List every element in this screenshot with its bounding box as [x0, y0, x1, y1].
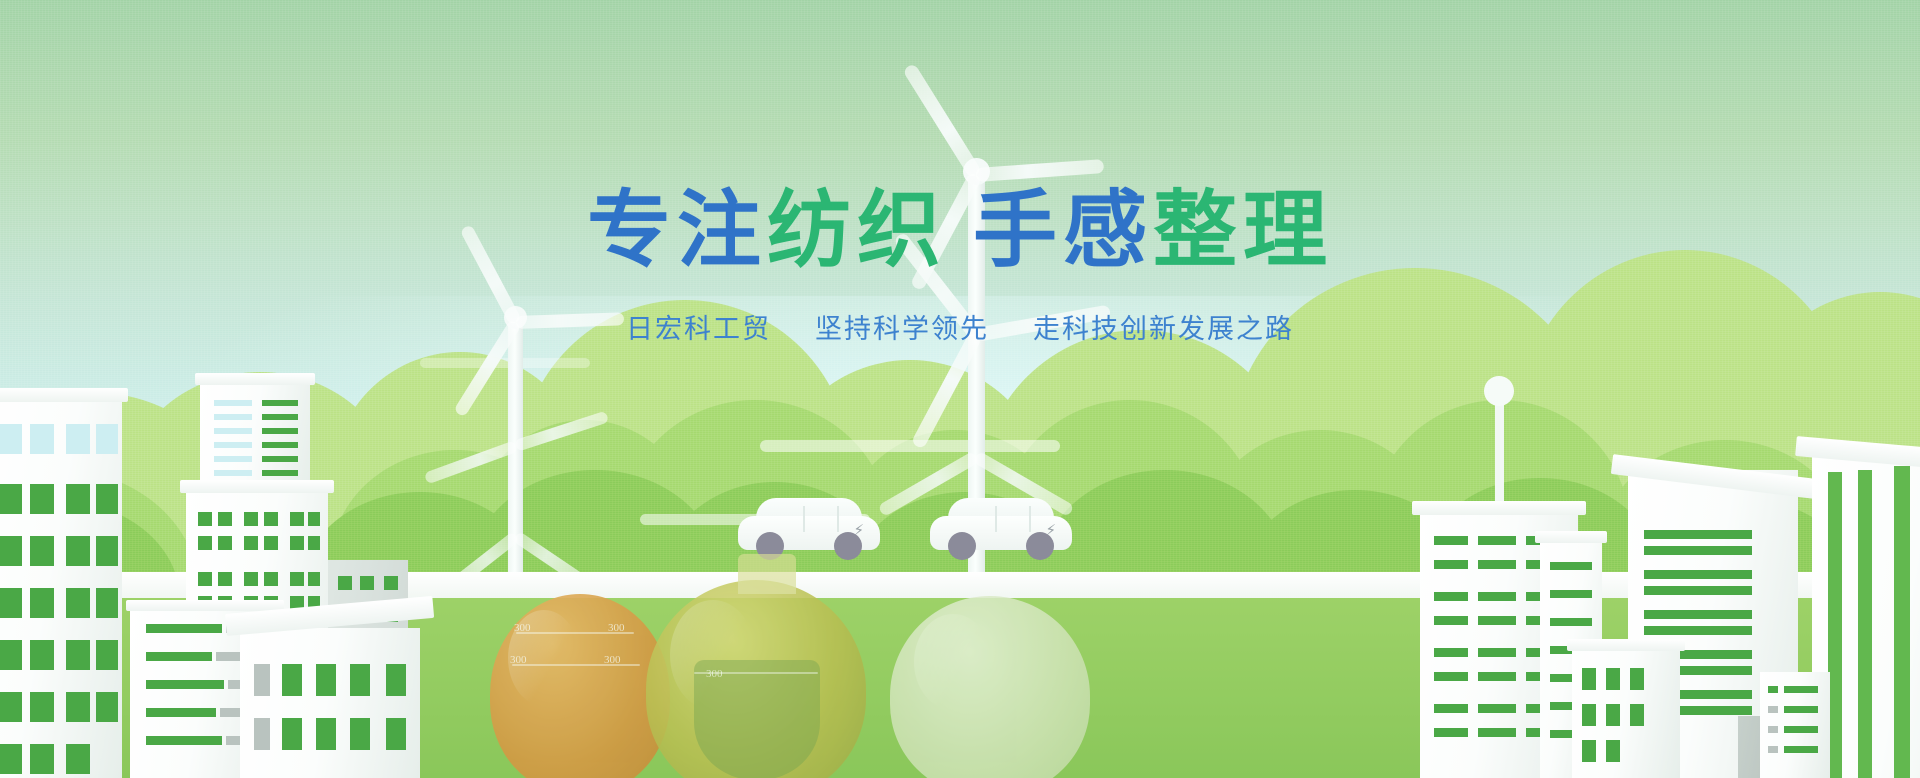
- car-window-divider: [803, 506, 805, 532]
- beaker-gradation-label: 300: [604, 654, 621, 666]
- window-green: [1582, 704, 1596, 726]
- window-green: [244, 512, 258, 526]
- window-cyan: [214, 470, 252, 476]
- window-stripe-green: [1550, 590, 1592, 598]
- window-stripe-green: [1644, 586, 1752, 595]
- window-green: [66, 692, 90, 722]
- window-stripe-green: [1644, 530, 1752, 539]
- window-stripe-green: [1784, 746, 1818, 753]
- window-stripe-green: [262, 470, 298, 476]
- window-green: [198, 512, 212, 526]
- window-green: [66, 640, 90, 670]
- window-green: [264, 512, 278, 526]
- window-green: [308, 536, 320, 550]
- window-green: [360, 576, 374, 590]
- window-gray: [254, 664, 270, 696]
- window-gray: [1768, 706, 1778, 713]
- window-green: [1606, 668, 1620, 690]
- window-stripe-green: [1434, 704, 1468, 713]
- window-green: [1582, 740, 1596, 762]
- window-cyan: [214, 414, 252, 420]
- window-cyan: [214, 442, 252, 448]
- ev-lightning-icon: ⚡: [1045, 523, 1056, 538]
- subline-slogan-two: 走科技创新发展之路: [1033, 307, 1294, 346]
- window-green: [0, 536, 22, 566]
- window-green: [1630, 704, 1644, 726]
- window-stripe-vertical: [1894, 466, 1910, 778]
- window-stripe-vertical: [1828, 472, 1842, 778]
- window-green: [264, 572, 278, 586]
- subline-company-name: 日宏科工贸: [626, 307, 771, 346]
- window-green: [282, 664, 302, 696]
- window-stripe-green: [1478, 592, 1516, 601]
- window-green: [316, 718, 336, 750]
- window-stripe-green: [146, 736, 222, 745]
- building-left-front: [240, 628, 420, 778]
- window-green: [0, 588, 22, 618]
- building-face: [240, 628, 420, 778]
- building-roof: [126, 600, 284, 611]
- window-stripe-green: [1784, 726, 1818, 733]
- window-green: [1582, 668, 1596, 690]
- window-stripe-green: [1478, 728, 1516, 737]
- window-green: [30, 692, 54, 722]
- window-green: [0, 744, 22, 774]
- window-green: [1606, 740, 1620, 762]
- headline-part-fangzhi: 纺织: [767, 186, 947, 274]
- car-window-divider: [1029, 506, 1031, 532]
- beaker-orange: 300 300 300 300: [490, 594, 670, 778]
- beaker-gradation-label: 300: [706, 668, 723, 680]
- window-stripe-green: [1478, 648, 1516, 657]
- subline-slogan-one: 坚持科学领先: [815, 307, 989, 346]
- building-roof: [1412, 501, 1586, 515]
- window-green: [66, 536, 90, 566]
- window-green: [308, 572, 320, 586]
- window-stripe-green: [146, 708, 216, 717]
- window-stripe-green: [1784, 706, 1818, 713]
- window-cyan: [96, 424, 118, 454]
- eco-city-banner: ⚡ ⚡ 300 300 300 300 300 专注纺织手感整理 日宏科工贸坚持…: [0, 0, 1920, 778]
- car-wheel: [948, 532, 976, 560]
- window-green: [290, 512, 304, 526]
- window-green: [308, 512, 320, 526]
- window-stripe-green: [1644, 610, 1752, 619]
- building-roof: [180, 480, 334, 493]
- window-green: [350, 664, 370, 696]
- antenna-ball-icon: [1484, 376, 1514, 406]
- beaker-neck: [738, 554, 796, 594]
- window-green: [386, 718, 406, 750]
- window-stripe-green: [1434, 592, 1468, 601]
- beaker-gloss: [914, 614, 992, 710]
- window-stripe-green: [1550, 562, 1592, 570]
- window-stripe-green: [1768, 686, 1778, 693]
- window-green: [350, 718, 370, 750]
- window-green: [198, 536, 212, 550]
- window-green: [218, 572, 232, 586]
- window-green: [1606, 704, 1620, 726]
- page-title: 专注纺织手感整理: [0, 186, 1920, 274]
- window-stripe-vertical: [1858, 470, 1872, 778]
- beaker-gradation-label: 300: [514, 622, 531, 634]
- window-stripe-green: [1644, 546, 1752, 555]
- window-stripe-green: [1434, 672, 1468, 681]
- window-cyan: [66, 424, 90, 454]
- building-roof: [1535, 531, 1607, 543]
- building-roof: [195, 373, 315, 385]
- window-green: [96, 692, 118, 722]
- window-green: [198, 572, 212, 586]
- building-left-striped: [200, 382, 310, 492]
- window-green: [30, 588, 54, 618]
- window-green: [96, 640, 118, 670]
- window-green: [96, 536, 118, 566]
- window-green: [290, 536, 304, 550]
- window-stripe-green: [1478, 616, 1516, 625]
- headline-part-shougan: 手感: [973, 186, 1153, 274]
- window-green: [66, 484, 90, 514]
- window-green: [218, 536, 232, 550]
- window-cyan: [30, 424, 54, 454]
- window-stripe-green: [1434, 560, 1468, 569]
- window-green: [66, 588, 90, 618]
- window-green: [338, 576, 352, 590]
- window-stripe-green: [262, 414, 298, 420]
- window-green: [316, 664, 336, 696]
- window-green: [30, 640, 54, 670]
- window-stripe-green: [1478, 536, 1516, 545]
- car-window-divider: [837, 506, 839, 532]
- window-stripe-green: [1644, 626, 1752, 635]
- window-stripe-green: [1434, 616, 1468, 625]
- window-green: [282, 718, 302, 750]
- window-stripe-green: [262, 456, 298, 462]
- antenna-mast: [1495, 398, 1504, 513]
- window-stripe-green: [1478, 560, 1516, 569]
- headline-part-zhuanzhu: 专注: [587, 186, 767, 274]
- window-stripe-green: [1478, 672, 1516, 681]
- window-stripe-green: [262, 400, 298, 406]
- car-window-divider: [995, 506, 997, 532]
- window-stripe-green: [1434, 536, 1468, 545]
- window-green: [66, 744, 90, 774]
- window-stripe-green: [262, 428, 298, 434]
- window-green: [290, 572, 304, 586]
- window-stripe-green: [146, 652, 212, 661]
- window-stripe-green: [1784, 686, 1818, 693]
- building-left-tower: [0, 398, 122, 778]
- building-right-front-grid: [1572, 648, 1680, 778]
- window-gray: [1768, 746, 1778, 753]
- turbine-blade: [424, 440, 518, 484]
- beaker-gradation-label: 300: [510, 654, 527, 666]
- window-stripe-green: [146, 624, 222, 633]
- window-green: [244, 536, 258, 550]
- window-gray: [254, 718, 270, 750]
- ev-lightning-icon: ⚡: [853, 523, 864, 538]
- window-green: [96, 484, 118, 514]
- window-cyan: [214, 428, 252, 434]
- window-stripe-green: [146, 680, 224, 689]
- building-roof: [0, 388, 128, 402]
- window-green: [384, 576, 398, 590]
- window-green: [30, 744, 54, 774]
- headline-part-zhengli: 整理: [1153, 186, 1333, 274]
- window-stripe-green: [262, 442, 298, 448]
- window-green: [0, 692, 22, 722]
- window-green: [244, 572, 258, 586]
- window-green: [264, 536, 278, 550]
- window-stripe-green: [1434, 728, 1468, 737]
- electric-car-left: ⚡: [738, 498, 880, 560]
- window-cyan: [214, 400, 252, 406]
- page-subtitle: 日宏科工贸坚持科学领先走科技创新发展之路: [0, 307, 1920, 346]
- window-green: [30, 484, 54, 514]
- window-cyan: [0, 424, 22, 454]
- window-stripe-green: [1644, 570, 1752, 579]
- window-cyan: [214, 456, 252, 462]
- window-stripe-green: [1434, 648, 1468, 657]
- building-right-thin-rows: [1760, 672, 1830, 778]
- window-green: [0, 640, 22, 670]
- window-gray: [1768, 726, 1778, 733]
- window-stripe-green: [1478, 704, 1516, 713]
- window-green: [218, 512, 232, 526]
- window-green: [0, 484, 22, 514]
- window-green: [386, 664, 406, 696]
- building-roof: [1567, 639, 1685, 651]
- window-green: [96, 588, 118, 618]
- turbine-blade: [514, 411, 609, 452]
- window-green: [1630, 668, 1644, 690]
- electric-car-right: ⚡: [930, 498, 1072, 560]
- window-stripe-green: [1550, 618, 1592, 626]
- turbine-blade: [976, 159, 1105, 182]
- beaker-gradation-label: 300: [608, 622, 625, 634]
- window-green: [30, 536, 54, 566]
